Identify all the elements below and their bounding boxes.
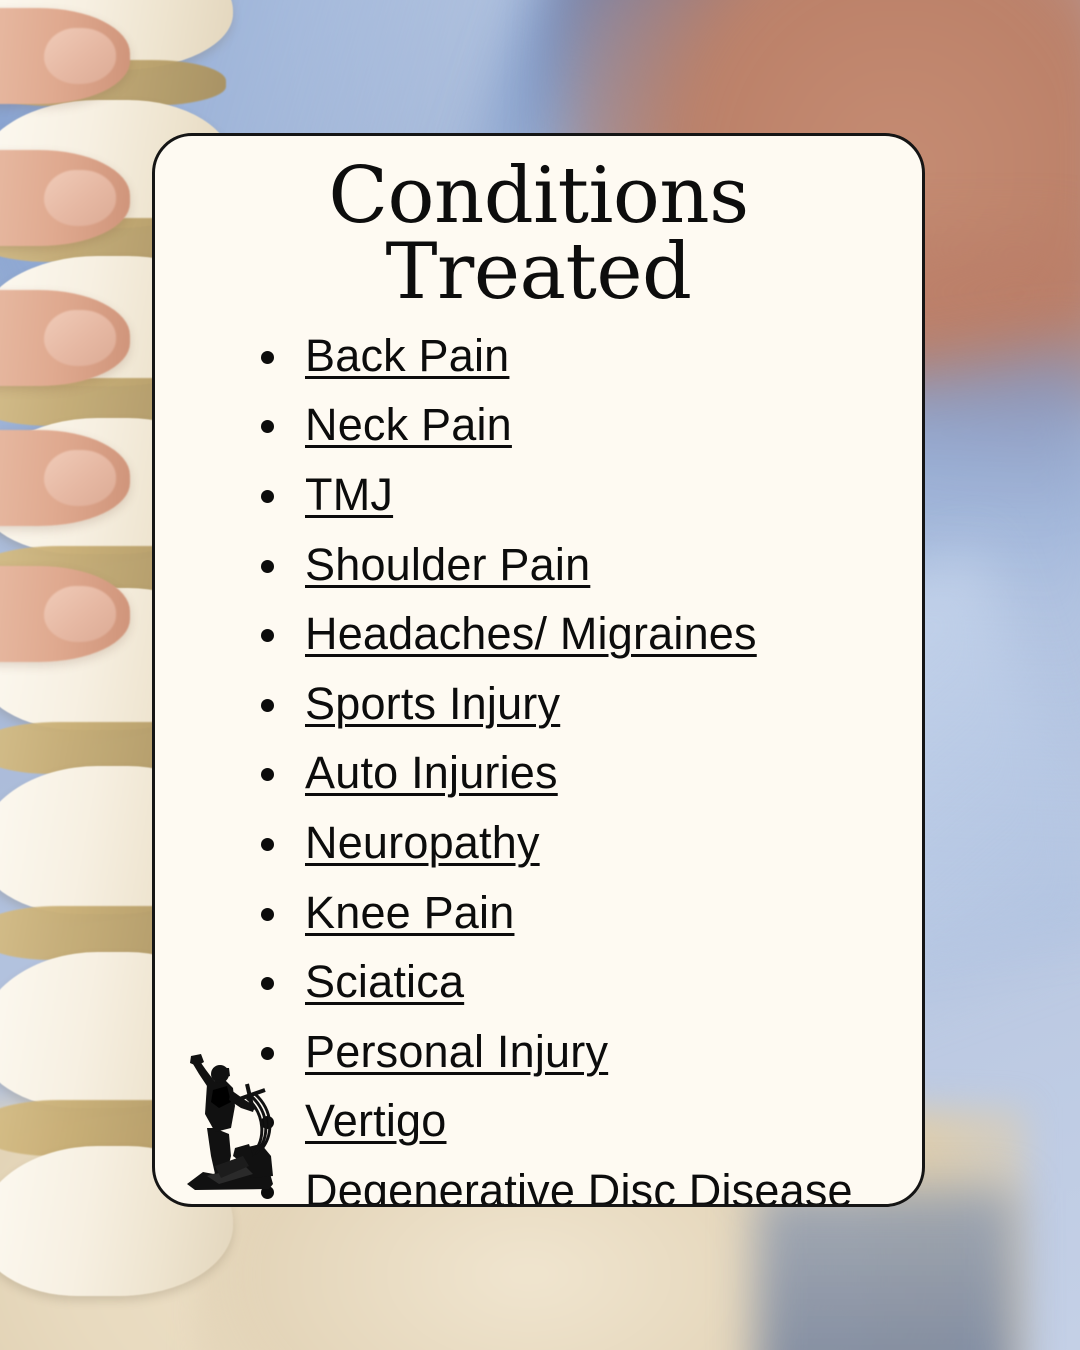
list-item[interactable]: Degenerative Disc Disease bbox=[305, 1162, 882, 1207]
list-item[interactable]: Sciatica bbox=[305, 953, 882, 1011]
page-title-line-1: Conditions bbox=[197, 158, 880, 234]
list-item-label: Shoulder Pain bbox=[305, 539, 590, 590]
list-item-label: TMJ bbox=[305, 469, 393, 520]
list-item[interactable]: Neuropathy bbox=[305, 814, 882, 872]
list-item[interactable]: Headaches/ Migraines bbox=[305, 605, 882, 663]
list-item-label: Sports Injury bbox=[305, 678, 560, 729]
list-item[interactable]: Personal Injury bbox=[305, 1023, 882, 1081]
list-item[interactable]: Knee Pain bbox=[305, 884, 882, 942]
fingernail bbox=[44, 310, 116, 366]
list-item[interactable]: Back Pain bbox=[305, 327, 882, 385]
list-item-label: Neck Pain bbox=[305, 399, 512, 450]
list-item[interactable]: TMJ bbox=[305, 466, 882, 524]
list-item-label: Sciatica bbox=[305, 956, 464, 1007]
list-item[interactable]: Shoulder Pain bbox=[305, 536, 882, 594]
conditions-card: Conditions Treated Back Pain Neck Pain T… bbox=[152, 133, 925, 1207]
list-item-label: Neuropathy bbox=[305, 817, 540, 868]
fingernail bbox=[44, 28, 116, 84]
list-item-label: Personal Injury bbox=[305, 1026, 608, 1077]
list-item[interactable]: Sports Injury bbox=[305, 675, 882, 733]
statue-figure-logo bbox=[173, 1044, 285, 1196]
list-item[interactable]: Vertigo bbox=[305, 1092, 882, 1150]
page-title-line-2: Treated bbox=[197, 234, 880, 310]
list-item-label: Headaches/ Migraines bbox=[305, 608, 757, 659]
fingernail bbox=[44, 170, 116, 226]
poster-canvas: Conditions Treated Back Pain Neck Pain T… bbox=[0, 0, 1080, 1350]
list-item-label: Vertigo bbox=[305, 1095, 447, 1146]
list-item-label: Degenerative Disc Disease bbox=[305, 1165, 853, 1207]
list-item-label: Knee Pain bbox=[305, 887, 514, 938]
list-item-label: Auto Injuries bbox=[305, 747, 558, 798]
list-item-label: Back Pain bbox=[305, 330, 509, 381]
shadow-bottom-right bbox=[756, 1188, 1015, 1350]
page-title: Conditions Treated bbox=[155, 136, 922, 311]
list-item[interactable]: Auto Injuries bbox=[305, 744, 882, 802]
fingernail bbox=[44, 450, 116, 506]
fingernail bbox=[44, 586, 116, 642]
list-item[interactable]: Neck Pain bbox=[305, 396, 882, 454]
